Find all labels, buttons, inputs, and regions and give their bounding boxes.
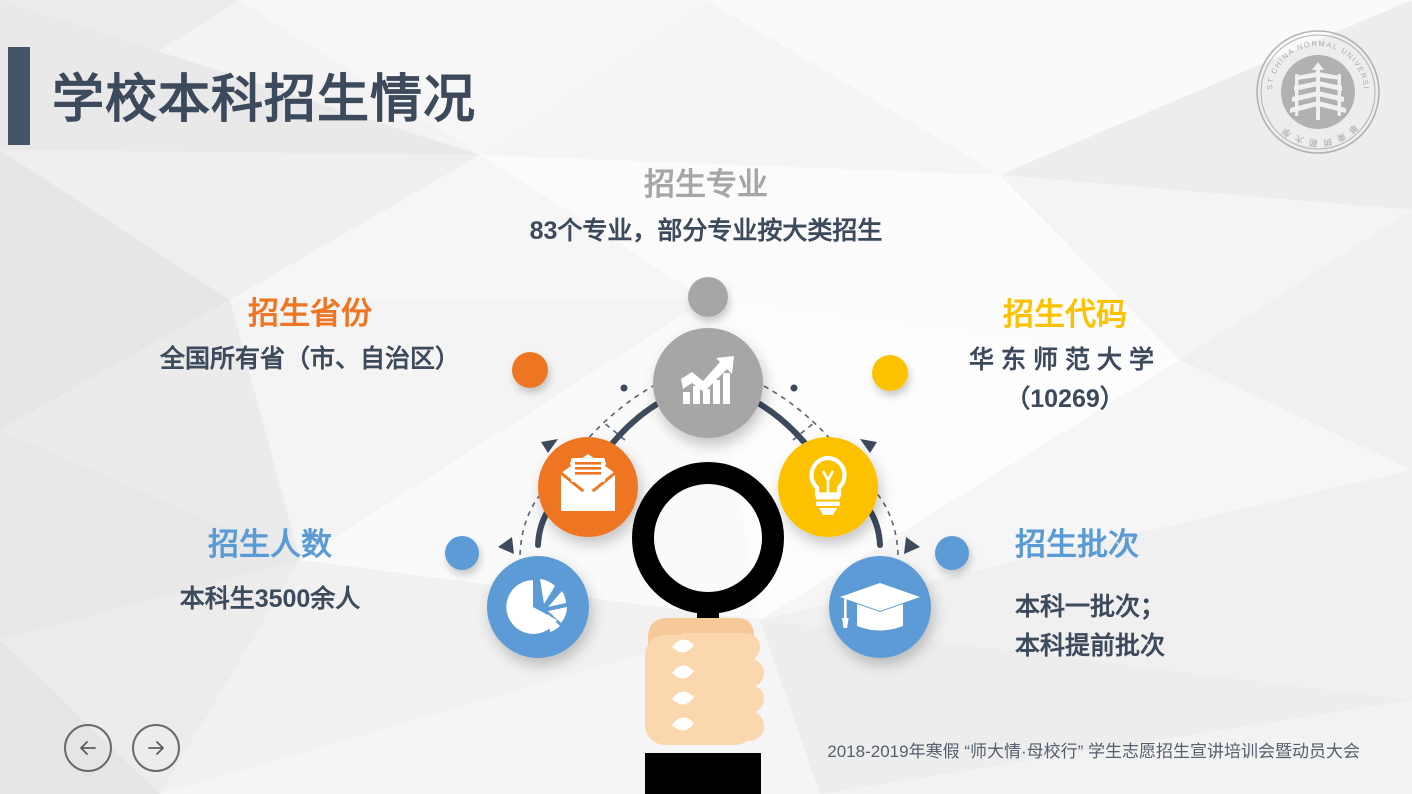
callout-code: 招生代码 华东师范大学 （10269） [905,298,1225,417]
callout-code-body-line2: （10269） [905,383,1225,417]
satellite-dot-orange [512,352,548,388]
callout-code-heading: 招生代码 [905,298,1225,333]
node-lightbulb [778,437,878,537]
satellite-dot-blue-right [935,536,969,570]
arrow-left-icon [76,736,100,760]
title-accent-bar [8,47,30,145]
callout-provinces-body: 全国所有省（市、自治区） [110,343,510,377]
slide-navigation [64,724,180,772]
node-growth-chart [653,328,763,438]
hand-shape [645,618,764,794]
satellite-dot-yellow [872,355,908,391]
node-envelope [538,437,638,537]
callout-count-body: 本科生3500余人 [105,583,435,617]
prev-slide-button[interactable] [64,724,112,772]
callout-batch-heading: 招生批次 [1015,528,1345,563]
arrow-right-icon [144,736,168,760]
callout-batch-body-line1: 本科一批次； [1015,591,1345,625]
page-title: 学校本科招生情况 [52,57,476,132]
presentation-slide: 学校本科招生情况 EAST CHINA NORMAL [0,0,1412,794]
next-slide-button[interactable] [132,724,180,772]
callout-provinces-heading: 招生省份 [110,297,510,332]
callout-majors-body: 83个专业，部分专业按大类招生 [0,215,1412,249]
magnifier-in-hand-icon [643,473,773,794]
callout-majors: 招生专业 83个专业，部分专业按大类招生 [0,168,1412,248]
university-logo-icon: EAST CHINA NORMAL UNIVERSITY 華東師範大學 [1254,28,1382,156]
node-graduation-cap [829,556,931,658]
callout-count-heading: 招生人数 [105,528,435,563]
footer-note: 2018-2019年寒假 “师大情·母校行” 学生志愿招生宣讲培训会暨动员大会 [827,737,1360,762]
callout-majors-heading: 招生专业 [0,168,1412,203]
callout-count: 招生人数 本科生3500余人 [105,528,435,616]
callout-provinces: 招生省份 全国所有省（市、自治区） [110,297,510,376]
satellite-dot-blue-left [445,536,479,570]
university-logo: EAST CHINA NORMAL UNIVERSITY 華東師範大學 [1254,28,1382,156]
callout-batch-body-line2: 本科提前批次 [1015,630,1345,664]
node-pie-chart [487,556,589,658]
callout-batch: 招生批次 本科一批次； 本科提前批次 [1015,528,1345,664]
callout-code-body-line1: 华东师范大学 [905,344,1225,378]
satellite-dot-gray [688,277,728,317]
